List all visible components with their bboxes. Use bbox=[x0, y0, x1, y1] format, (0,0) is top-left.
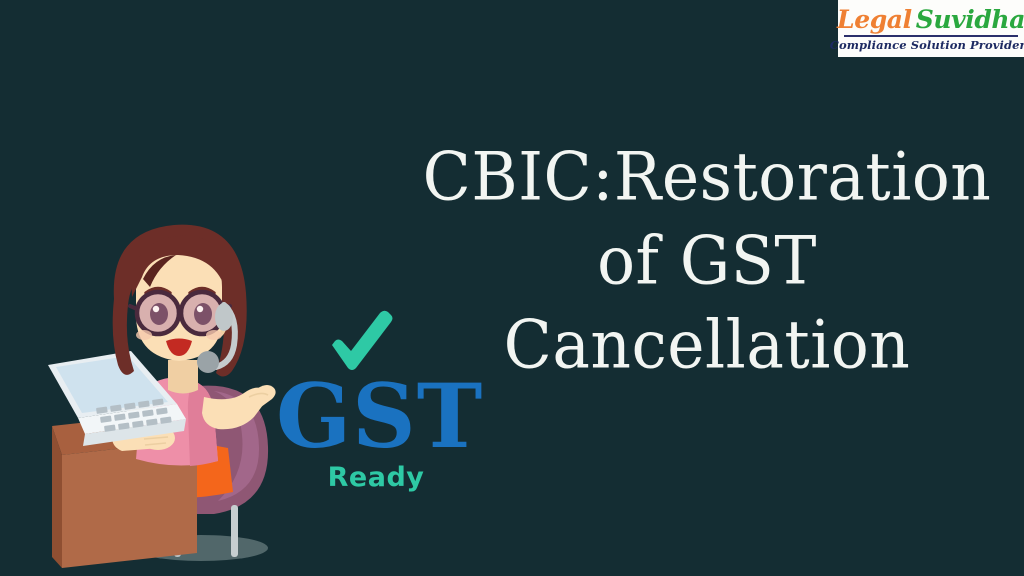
page-title-line-3: Cancellation bbox=[400, 300, 1014, 389]
logo-word-legal: Legal bbox=[837, 5, 912, 34]
eye-left bbox=[150, 303, 168, 325]
logo-wordmark: LegalSuvidha bbox=[837, 6, 1024, 34]
logo-word-suvidha: Suvidha bbox=[916, 5, 1024, 34]
female-support-agent-illustration bbox=[18, 205, 318, 576]
logo-tagline: Compliance Solution Providers bbox=[830, 38, 1024, 52]
page-title: CBIC:Restoration of GST Cancellation bbox=[400, 135, 1014, 387]
logo-divider bbox=[844, 35, 1018, 37]
page-title-line-2: of GST bbox=[400, 216, 1014, 305]
page-title-line-1: CBIC:Restoration bbox=[400, 132, 1014, 221]
neck bbox=[168, 360, 198, 394]
eye-right bbox=[194, 303, 212, 325]
banner-canvas: LegalSuvidha Compliance Solution Provide… bbox=[0, 0, 1024, 576]
cheek-left bbox=[136, 330, 152, 340]
cheek-right bbox=[206, 330, 222, 340]
brand-logo[interactable]: LegalSuvidha Compliance Solution Provide… bbox=[838, 0, 1024, 57]
